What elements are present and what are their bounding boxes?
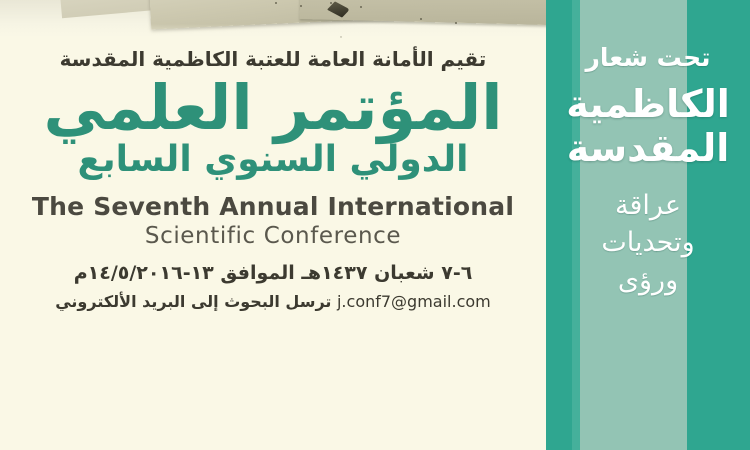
slogan-body-line1: عراقة [560,187,736,224]
slogan-panel-content: تحت شعار الكاظمية المقدسة عراقة وتحديات … [546,0,750,299]
slogan-body-line3: ورؤى [560,262,736,299]
slogan-panel: تحت شعار الكاظمية المقدسة عراقة وتحديات … [546,0,750,450]
submission-email-label: ترسل البحوث إلى البريد الألكتروني [55,292,331,311]
conference-title-arabic: المؤتمر العلمي [0,76,546,139]
photo-speck [420,18,422,20]
slogan-body-line2: وتحديات [560,224,736,261]
photo-speck [275,2,277,4]
conference-title-english-line2: Scientific Conference [0,223,546,249]
slogan-title: الكاظمية المقدسة [560,82,736,172]
slogan-eyebrow: تحت شعار [560,44,736,72]
slogan-title-line2: المقدسة [560,126,736,171]
conference-poster: تقيم الأمانة العامة للعتبة الكاظمية المق… [0,0,750,450]
conference-subtitle-arabic: الدولي السنوي السابع [0,141,546,179]
submission-email-line: j.conf7@gmail.com ترسل البحوث إلى البريد… [0,292,546,311]
slogan-body: عراقة وتحديات ورؤى [560,187,736,299]
photo-speck [330,2,332,4]
photo-speck [300,5,302,7]
slogan-title-line1: الكاظمية [560,82,736,127]
main-content-column: تقيم الأمانة العامة للعتبة الكاظمية المق… [0,38,546,450]
submission-email-address[interactable]: j.conf7@gmail.com [337,292,491,311]
conference-title-english-line1: The Seventh Annual International [0,193,546,221]
photo-speck [360,6,362,8]
conference-date-line: ٦-٧ شعبان ١٤٣٧هـ الموافق ١٣-١٤/٥/٢٠١٦م [0,263,546,284]
organizer-line: تقيم الأمانة العامة للعتبة الكاظمية المق… [0,48,546,70]
